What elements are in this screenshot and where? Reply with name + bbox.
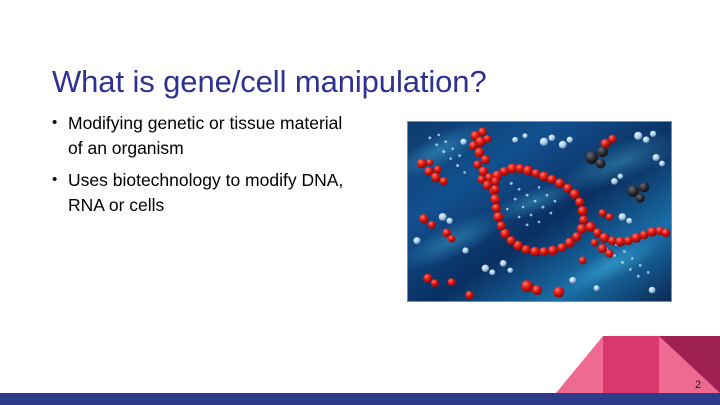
slide: What is gene/cell manipulation? Modifyin… — [0, 0, 720, 405]
page-title: What is gene/cell manipulation? — [52, 63, 652, 101]
dna-helix-image — [407, 121, 672, 302]
list-item: Uses biotechnology to modify DNA, RNA or… — [50, 168, 360, 217]
footer-bar — [0, 393, 720, 405]
page-number: 2 — [690, 378, 706, 392]
list-item: Modifying genetic or tissue material of … — [50, 111, 360, 160]
dna-illustration-icon — [408, 122, 671, 301]
bullet-list: Modifying genetic or tissue material of … — [50, 111, 360, 225]
